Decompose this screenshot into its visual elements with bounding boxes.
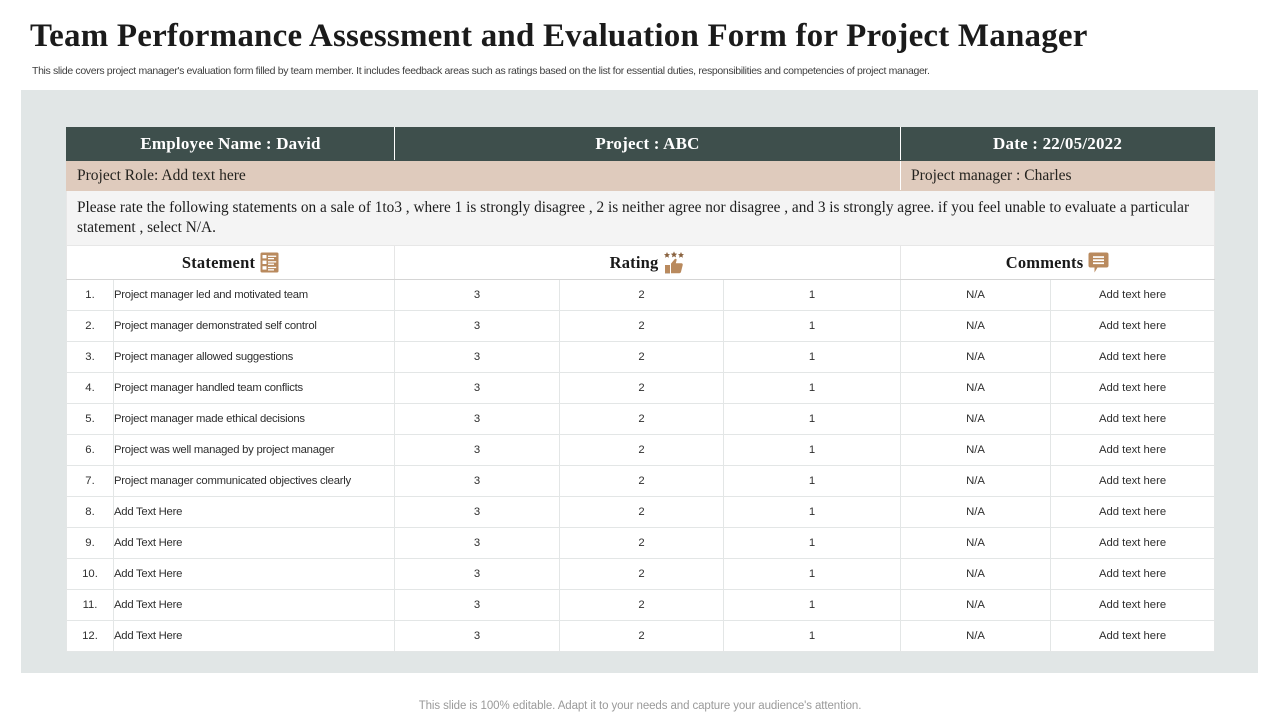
page-title: Team Performance Assessment and Evaluati… — [30, 18, 1250, 56]
statement-cell[interactable]: Add Text Here — [114, 559, 395, 590]
rating-option-na[interactable]: N/A — [901, 280, 1051, 311]
rating-column-header: Rating — [395, 246, 901, 280]
statement-column-header: Statement — [67, 246, 395, 280]
rating-option-3[interactable]: 3 — [395, 528, 560, 559]
rating-option-2[interactable]: 2 — [560, 528, 724, 559]
table-row: 1.Project manager led and motivated team… — [67, 280, 1215, 311]
column-header-row: Statement — [67, 246, 1215, 280]
rating-option-2[interactable]: 2 — [560, 590, 724, 621]
project-manager-field[interactable]: Project manager : Charles — [901, 161, 1215, 191]
statement-header-label: Statement — [182, 253, 255, 273]
page-subtitle: This slide covers project manager's eval… — [32, 65, 1250, 78]
date-cell: Date : 22/05/2022 — [901, 128, 1215, 161]
statement-cell[interactable]: Project manager communicated objectives … — [114, 466, 395, 497]
rating-option-1[interactable]: 1 — [724, 590, 901, 621]
title-block: Team Performance Assessment and Evaluati… — [0, 0, 1280, 78]
rating-option-1[interactable]: 1 — [724, 497, 901, 528]
comment-cell[interactable]: Add text here — [1051, 466, 1215, 497]
comment-cell[interactable]: Add text here — [1051, 528, 1215, 559]
rating-option-3[interactable]: 3 — [395, 342, 560, 373]
statement-cell[interactable]: Add Text Here — [114, 590, 395, 621]
row-number: 4. — [67, 373, 114, 404]
thumbs-up-stars-icon — [663, 251, 685, 274]
comment-cell[interactable]: Add text here — [1051, 559, 1215, 590]
speech-bubble-icon — [1088, 252, 1109, 273]
comment-cell[interactable]: Add text here — [1051, 404, 1215, 435]
rating-option-2[interactable]: 2 — [560, 621, 724, 652]
employee-name-cell: Employee Name : David — [67, 128, 395, 161]
rating-option-1[interactable]: 1 — [724, 559, 901, 590]
rating-option-3[interactable]: 3 — [395, 559, 560, 590]
slide-canvas: Team Performance Assessment and Evaluati… — [0, 0, 1280, 720]
rating-option-2[interactable]: 2 — [560, 466, 724, 497]
rating-option-na[interactable]: N/A — [901, 559, 1051, 590]
rating-option-na[interactable]: N/A — [901, 590, 1051, 621]
rating-option-2[interactable]: 2 — [560, 435, 724, 466]
instructions-row: Please rate the following statements on … — [67, 191, 1215, 246]
row-number: 8. — [67, 497, 114, 528]
instructions-text: Please rate the following statements on … — [67, 191, 1215, 246]
rating-option-2[interactable]: 2 — [560, 373, 724, 404]
checklist-icon — [260, 252, 279, 273]
comment-cell[interactable]: Add text here — [1051, 280, 1215, 311]
rating-option-1[interactable]: 1 — [724, 528, 901, 559]
rating-option-na[interactable]: N/A — [901, 373, 1051, 404]
table-row: 5.Project manager made ethical decisions… — [67, 404, 1215, 435]
evaluation-form-table: Employee Name : David Project : ABC Date… — [66, 127, 1215, 652]
comment-cell[interactable]: Add text here — [1051, 497, 1215, 528]
statement-cell[interactable]: Project manager allowed suggestions — [114, 342, 395, 373]
table-row: 6.Project was well managed by project ma… — [67, 435, 1215, 466]
rating-option-na[interactable]: N/A — [901, 404, 1051, 435]
rating-option-3[interactable]: 3 — [395, 311, 560, 342]
rating-option-3[interactable]: 3 — [395, 280, 560, 311]
rating-header-label: Rating — [610, 253, 659, 273]
table-row: 9.Add Text Here321N/AAdd text here — [67, 528, 1215, 559]
table-row: 11.Add Text Here321N/AAdd text here — [67, 590, 1215, 621]
rating-option-na[interactable]: N/A — [901, 435, 1051, 466]
rating-option-3[interactable]: 3 — [395, 435, 560, 466]
table-row: 12.Add Text Here321N/AAdd text here — [67, 621, 1215, 652]
rating-option-3[interactable]: 3 — [395, 404, 560, 435]
comments-column-header: Comments — [901, 246, 1215, 280]
row-number: 10. — [67, 559, 114, 590]
rating-option-na[interactable]: N/A — [901, 466, 1051, 497]
comment-cell[interactable]: Add text here — [1051, 590, 1215, 621]
comment-cell[interactable]: Add text here — [1051, 435, 1215, 466]
table-row: 4.Project manager handled team conflicts… — [67, 373, 1215, 404]
project-role-field[interactable]: Project Role: Add text here — [67, 161, 901, 191]
rating-option-1[interactable]: 1 — [724, 435, 901, 466]
row-number: 1. — [67, 280, 114, 311]
statement-cell[interactable]: Add Text Here — [114, 528, 395, 559]
project-cell: Project : ABC — [395, 128, 901, 161]
rating-option-na[interactable]: N/A — [901, 528, 1051, 559]
rating-option-na[interactable]: N/A — [901, 311, 1051, 342]
rating-option-1[interactable]: 1 — [724, 342, 901, 373]
statement-cell[interactable]: Project was well managed by project mana… — [114, 435, 395, 466]
statement-cell[interactable]: Add Text Here — [114, 497, 395, 528]
row-number: 12. — [67, 621, 114, 652]
role-row: Project Role: Add text here Project mana… — [67, 161, 1215, 191]
rating-option-2[interactable]: 2 — [560, 311, 724, 342]
rating-option-2[interactable]: 2 — [560, 404, 724, 435]
rating-option-1[interactable]: 1 — [724, 280, 901, 311]
row-number: 2. — [67, 311, 114, 342]
row-number: 5. — [67, 404, 114, 435]
comment-cell[interactable]: Add text here — [1051, 342, 1215, 373]
rating-option-3[interactable]: 3 — [395, 590, 560, 621]
rating-option-2[interactable]: 2 — [560, 497, 724, 528]
row-number: 11. — [67, 590, 114, 621]
statement-cell[interactable]: Project manager demonstrated self contro… — [114, 311, 395, 342]
rating-option-1[interactable]: 1 — [724, 373, 901, 404]
comment-cell[interactable]: Add text here — [1051, 621, 1215, 652]
comment-cell[interactable]: Add text here — [1051, 373, 1215, 404]
statement-cell[interactable]: Add Text Here — [114, 621, 395, 652]
rating-option-2[interactable]: 2 — [560, 559, 724, 590]
table-row: 8.Add Text Here321N/AAdd text here — [67, 497, 1215, 528]
meta-header-row: Employee Name : David Project : ABC Date… — [67, 128, 1215, 161]
rating-option-na[interactable]: N/A — [901, 497, 1051, 528]
rating-option-1[interactable]: 1 — [724, 311, 901, 342]
statement-cell[interactable]: Project manager made ethical decisions — [114, 404, 395, 435]
rating-option-na[interactable]: N/A — [901, 621, 1051, 652]
rating-option-1[interactable]: 1 — [724, 621, 901, 652]
table-row: 2.Project manager demonstrated self cont… — [67, 311, 1215, 342]
comment-cell[interactable]: Add text here — [1051, 311, 1215, 342]
table-row: 7.Project manager communicated objective… — [67, 466, 1215, 497]
table-row: 10.Add Text Here321N/AAdd text here — [67, 559, 1215, 590]
rating-option-1[interactable]: 1 — [724, 404, 901, 435]
rating-option-2[interactable]: 2 — [560, 280, 724, 311]
table-row: 3.Project manager allowed suggestions321… — [67, 342, 1215, 373]
rating-option-1[interactable]: 1 — [724, 466, 901, 497]
footer-note: This slide is 100% editable. Adapt it to… — [0, 700, 1280, 712]
rating-option-na[interactable]: N/A — [901, 342, 1051, 373]
row-number: 9. — [67, 528, 114, 559]
row-number: 6. — [67, 435, 114, 466]
rating-option-3[interactable]: 3 — [395, 497, 560, 528]
rating-option-3[interactable]: 3 — [395, 621, 560, 652]
row-number: 3. — [67, 342, 114, 373]
statement-cell[interactable]: Project manager led and motivated team — [114, 280, 395, 311]
rating-option-2[interactable]: 2 — [560, 342, 724, 373]
rating-option-3[interactable]: 3 — [395, 466, 560, 497]
rating-option-3[interactable]: 3 — [395, 373, 560, 404]
row-number: 7. — [67, 466, 114, 497]
statement-cell[interactable]: Project manager handled team conflicts — [114, 373, 395, 404]
comments-header-label: Comments — [1006, 253, 1084, 273]
